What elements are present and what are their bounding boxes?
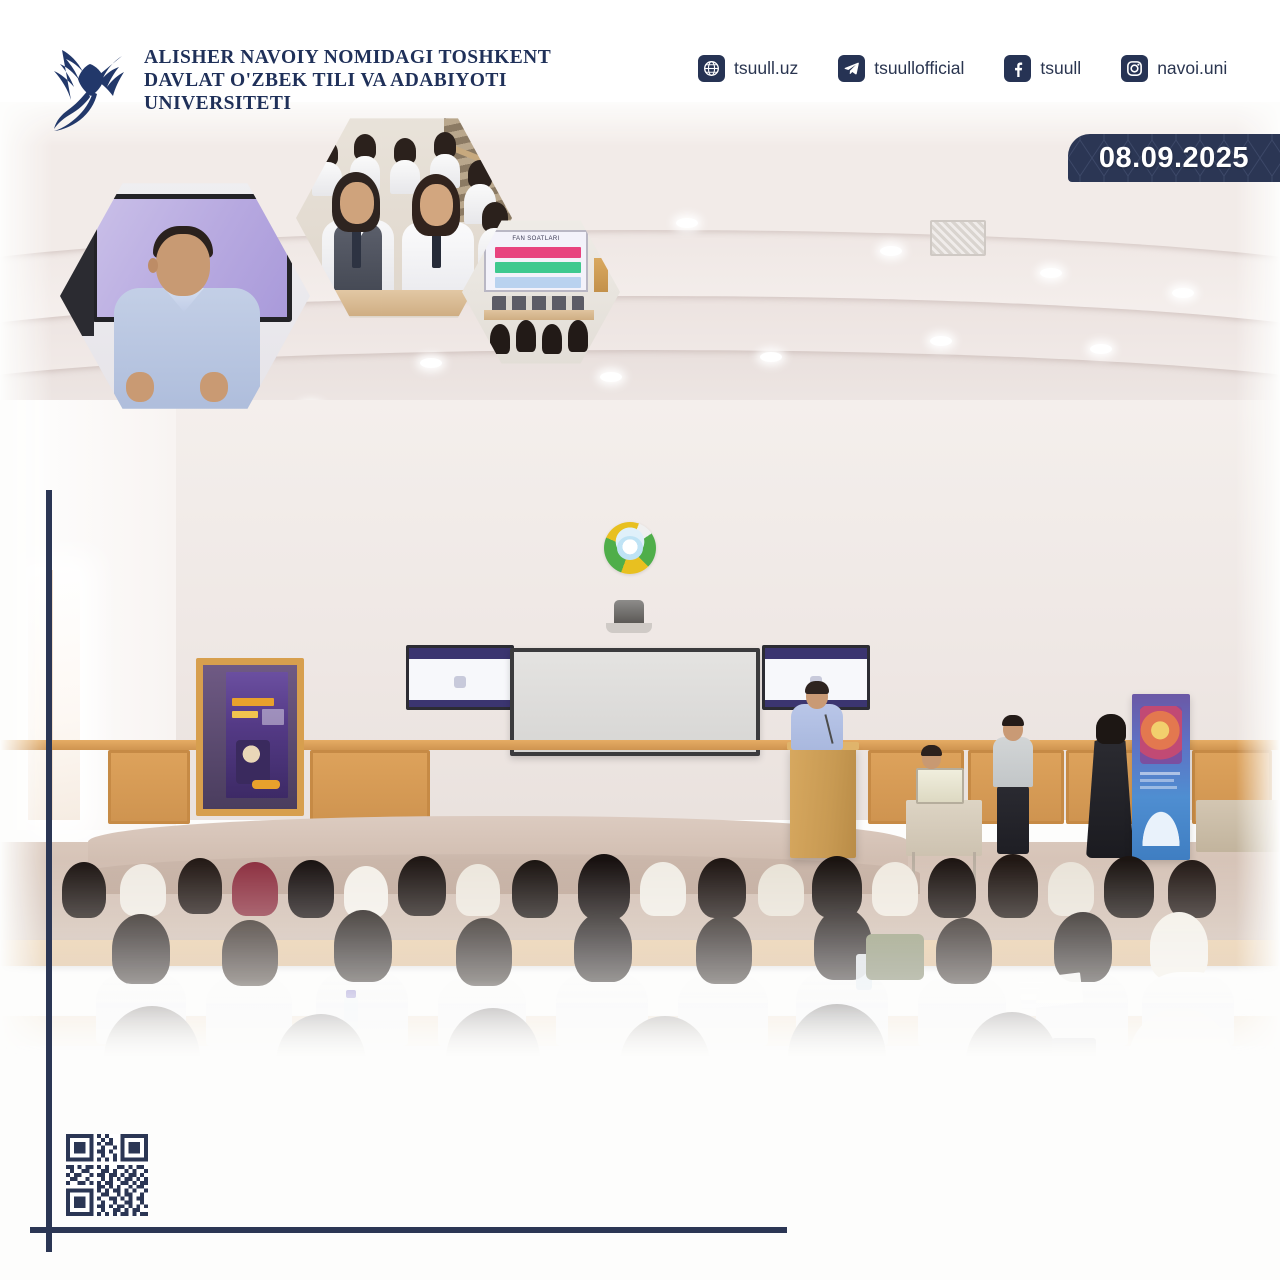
- standing-man-hair: [1002, 715, 1024, 726]
- wall-trim: [0, 740, 1280, 750]
- photo-bottom-fade: [0, 980, 1280, 1080]
- qr-code-icon: [66, 1134, 148, 1216]
- window: [28, 570, 80, 820]
- social-label-instagram: navoi.uni: [1157, 58, 1227, 79]
- laptop-screen: [916, 768, 964, 804]
- date-badge: 08.09.2025: [1068, 134, 1280, 182]
- social-link-facebook[interactable]: tsuull: [1004, 55, 1081, 82]
- qr-code[interactable]: [66, 1134, 148, 1216]
- wall-monitor-left: [406, 645, 514, 710]
- standing-man-legs: [997, 786, 1029, 854]
- speaker-torso: [791, 704, 843, 750]
- poster-canvas: FAN SOATLARI: [0, 0, 1280, 1280]
- lecturer-photo-hex: [60, 176, 310, 416]
- globe-icon: [698, 55, 725, 82]
- facebook-icon: [1004, 55, 1031, 82]
- emblem-center: [617, 536, 643, 560]
- camera-mount: [606, 623, 652, 633]
- date-text: 08.09.2025: [1099, 142, 1249, 175]
- social-label-facebook: tsuull: [1040, 58, 1081, 79]
- brand-block: ALISHER NAVOIY NOMIDAGI TOSHKENT DAVLAT …: [52, 38, 551, 132]
- standing-man-torso: [993, 737, 1033, 787]
- podium: [790, 746, 856, 858]
- social-link-telegram[interactable]: tsuullofficial: [838, 55, 964, 82]
- social-label-telegram: tsuullofficial: [874, 58, 964, 79]
- page-header: ALISHER NAVOIY NOMIDAGI TOSHKENT DAVLAT …: [0, 0, 1280, 102]
- social-link-website[interactable]: tsuull.uz: [698, 55, 798, 82]
- phoenix-bird-logo-icon: [52, 40, 130, 132]
- social-link-instagram[interactable]: navoi.uni: [1121, 55, 1227, 82]
- left-accent-line: [46, 490, 52, 1252]
- slide-title: FAN SOATLARI: [486, 236, 586, 242]
- social-links: tsuull.uz tsuullofficial tsuull: [698, 55, 1227, 82]
- wall-panel: [108, 750, 190, 824]
- seated-staff-hair: [921, 745, 942, 756]
- speaker-hair: [805, 681, 829, 694]
- university-name: ALISHER NAVOIY NOMIDAGI TOSHKENT DAVLAT …: [144, 38, 551, 115]
- banner-artwork: [1140, 706, 1182, 764]
- bottom-accent-line: [30, 1227, 787, 1233]
- right-desk: [1196, 800, 1280, 852]
- telegram-icon: [838, 55, 865, 82]
- social-label-website: tsuull.uz: [734, 58, 798, 79]
- standing-woman-hair: [1096, 714, 1126, 744]
- banner-moon: [1136, 800, 1186, 846]
- wall-panel: [310, 750, 430, 824]
- instagram-icon: [1121, 55, 1148, 82]
